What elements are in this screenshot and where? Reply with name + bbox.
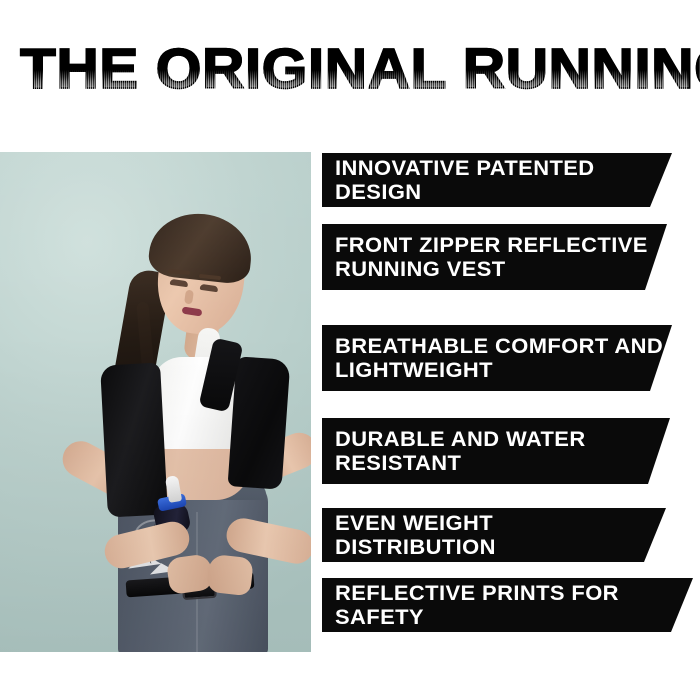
running-vest-right-panel [228,356,291,489]
title-area: THE ORIGINAL RUNNING VEST [0,40,700,120]
model-right-hand [206,554,254,596]
product-infographic: THE ORIGINAL RUNNING VEST [0,0,700,700]
feature-label: BREATHABLE COMFORT AND LIGHTWEIGHT [335,334,663,382]
page-title: THE ORIGINAL RUNNING VEST [20,40,700,100]
feature-banner: REFLECTIVE PRINTS FOR SAFETY [322,578,693,632]
running-vest-left-panel [100,363,168,518]
feature-banner: FRONT ZIPPER REFLECTIVE RUNNING VEST [322,224,667,290]
feature-list: INNOVATIVE PATENTED DESIGN FRONT ZIPPER … [322,150,700,640]
feature-banner: DURABLE AND WATER RESISTANT [322,418,670,484]
feature-label: DURABLE AND WATER RESISTANT [335,427,586,475]
feature-label: FRONT ZIPPER REFLECTIVE RUNNING VEST [335,233,648,281]
feature-label: EVEN WEIGHT DISTRIBUTION [335,511,658,559]
feature-label: INNOVATIVE PATENTED DESIGN [335,156,664,204]
feature-banner: BREATHABLE COMFORT AND LIGHTWEIGHT [322,325,672,391]
feature-banner: INNOVATIVE PATENTED DESIGN [322,153,672,207]
feature-banner: EVEN WEIGHT DISTRIBUTION [322,508,666,562]
product-photo [0,152,311,652]
feature-label: REFLECTIVE PRINTS FOR SAFETY [335,581,686,629]
